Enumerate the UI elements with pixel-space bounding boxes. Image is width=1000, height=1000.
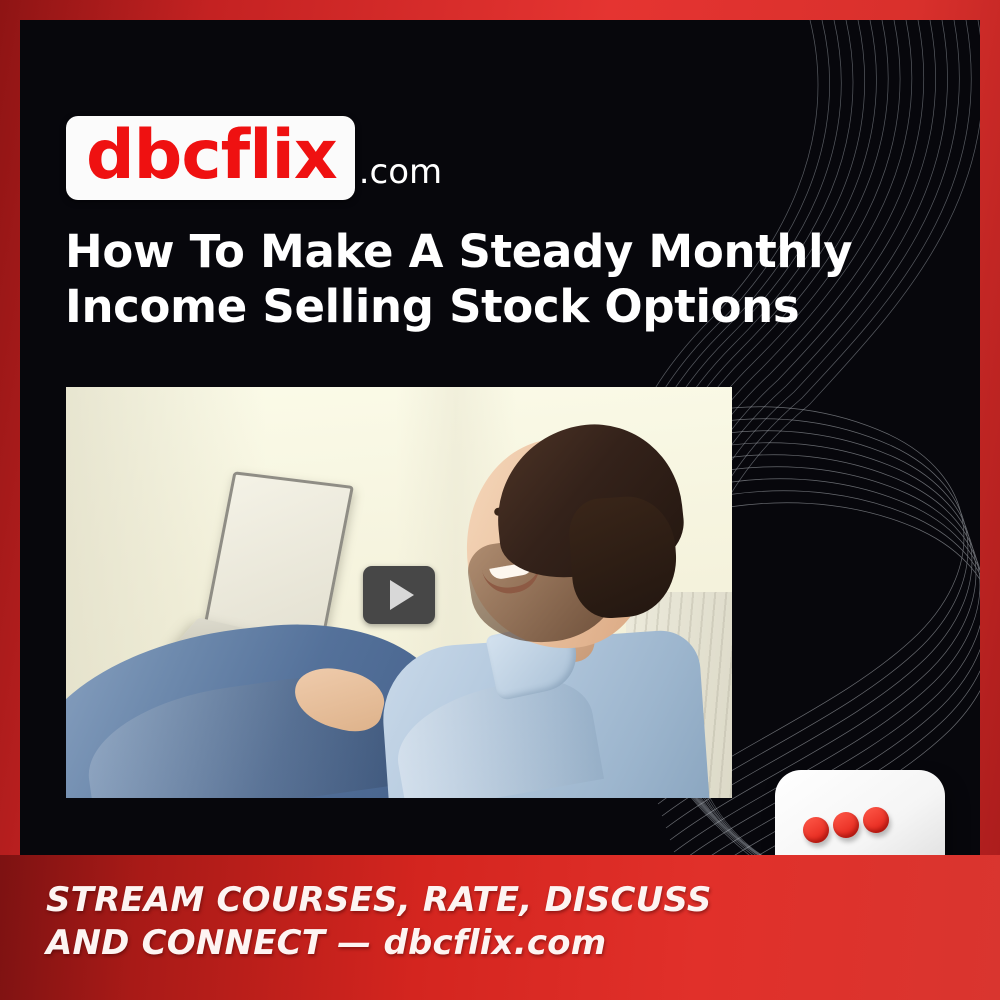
white-bubble-dot-1	[803, 817, 829, 843]
page-title: How To Make A Steady Monthly Income Sell…	[65, 225, 865, 335]
play-icon	[390, 580, 414, 610]
footer-line-2: AND CONNECT — dbcflix.com	[46, 922, 766, 965]
headline-line-1: How To Make A Steady Monthly	[65, 225, 865, 280]
white-bubble-dot-2	[833, 812, 859, 838]
white-bubble-dot-3	[863, 807, 889, 833]
logo-badge: dbcflix	[66, 116, 355, 200]
headline-line-2: Income Selling Stock Options	[65, 280, 865, 335]
content-panel: dbcflix .com How To Make A Steady Monthl…	[20, 20, 980, 980]
logo-wordmark: dbcflix	[86, 122, 337, 190]
footer-line-1: STREAM COURSES, RATE, DISCUSS	[46, 879, 766, 922]
promo-poster: dbcflix .com How To Make A Steady Monthl…	[0, 0, 1000, 1000]
brand-logo[interactable]: dbcflix .com	[66, 116, 442, 200]
footer-banner: STREAM COURSES, RATE, DISCUSS AND CONNEC…	[0, 855, 1000, 1000]
logo-tld-text: .com	[359, 152, 442, 200]
play-button[interactable]	[363, 566, 435, 624]
footer-tagline: STREAM COURSES, RATE, DISCUSS AND CONNEC…	[46, 879, 766, 965]
